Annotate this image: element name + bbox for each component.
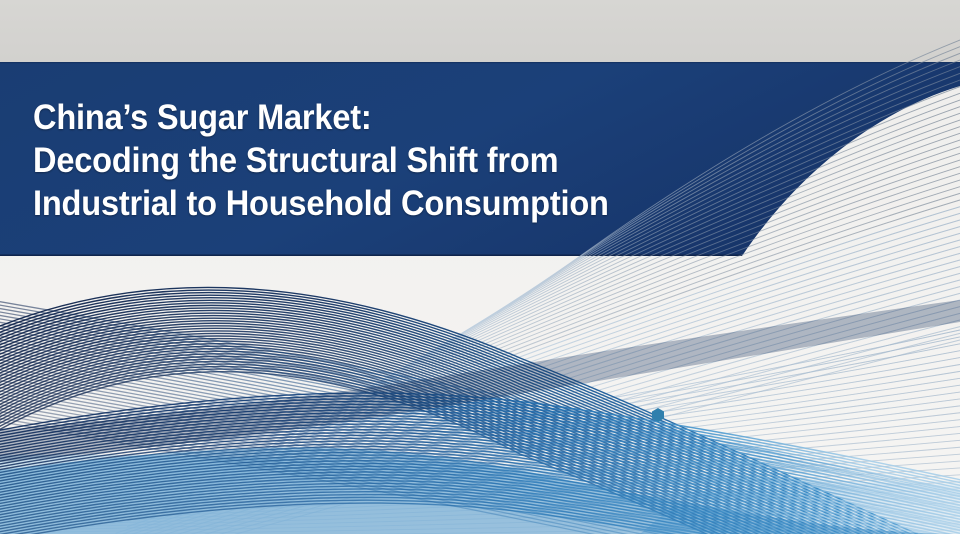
page-title: China’s Sugar Market: Decoding the Struc… — [33, 96, 733, 225]
title-line-2: Decoding the Structural Shift from — [33, 139, 684, 182]
banner-layer: China’s Sugar Market: Decoding the Struc… — [0, 0, 960, 534]
title-line-3: Industrial to Household Consumption — [33, 182, 684, 225]
title-slide: China’s Sugar Market: Decoding the Struc… — [0, 0, 960, 534]
title-line-1: China’s Sugar Market: — [33, 96, 684, 139]
